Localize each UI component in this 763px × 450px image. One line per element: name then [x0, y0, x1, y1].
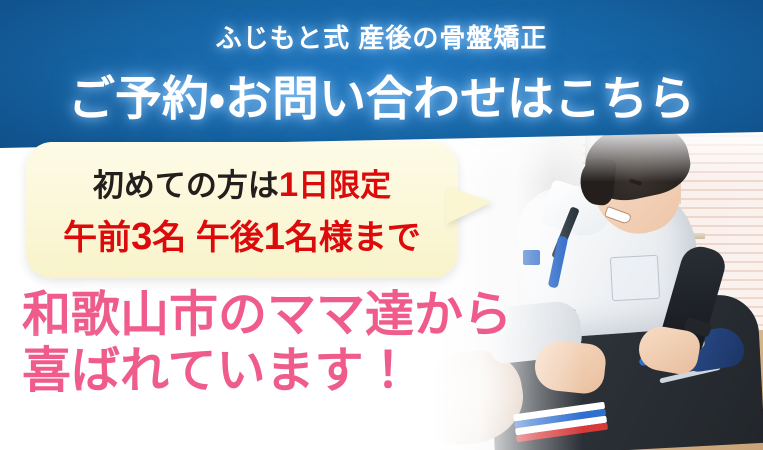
bubble-line2-part1: 午前	[63, 219, 131, 257]
bubble-line1-number: 1	[279, 166, 298, 204]
bubble-line2-number-am: 3	[131, 216, 152, 258]
bubble-line2-part3: 名様まで	[285, 219, 421, 257]
bubble-line1-red: 日限定	[298, 168, 391, 203]
promo-line-1: 和歌山市のママ達から	[22, 288, 512, 344]
speech-bubble: 初めての方は1日限定 午前3名 午後1名様まで	[26, 142, 496, 278]
bubble-line1-dark: 初めての方は	[93, 168, 279, 203]
bubble-line-2: 午前3名 午後1名様まで	[26, 210, 458, 259]
promo-text-block: 和歌山市のママ達から 喜ばれています！	[22, 288, 512, 400]
bubble-line2-number-pm: 1	[264, 216, 285, 258]
promotional-banner: 8 ふじもと式 産後の骨盤矯正 ご予約・お問い合わせはこちら 初めての方は1日限…	[0, 0, 763, 450]
headline-text: ご予約・お問い合わせはこちら	[0, 60, 763, 129]
bubble-line2-part2: 名 午後	[152, 219, 263, 257]
eyebrow-text: ふじもと式 産後の骨盤矯正	[0, 18, 763, 55]
sleeve-logo-patch	[523, 250, 540, 265]
promo-line-2: 喜ばれています！	[22, 344, 512, 400]
bubble-line-1: 初めての方は1日限定	[26, 160, 458, 205]
shirt-pocket	[610, 255, 660, 301]
